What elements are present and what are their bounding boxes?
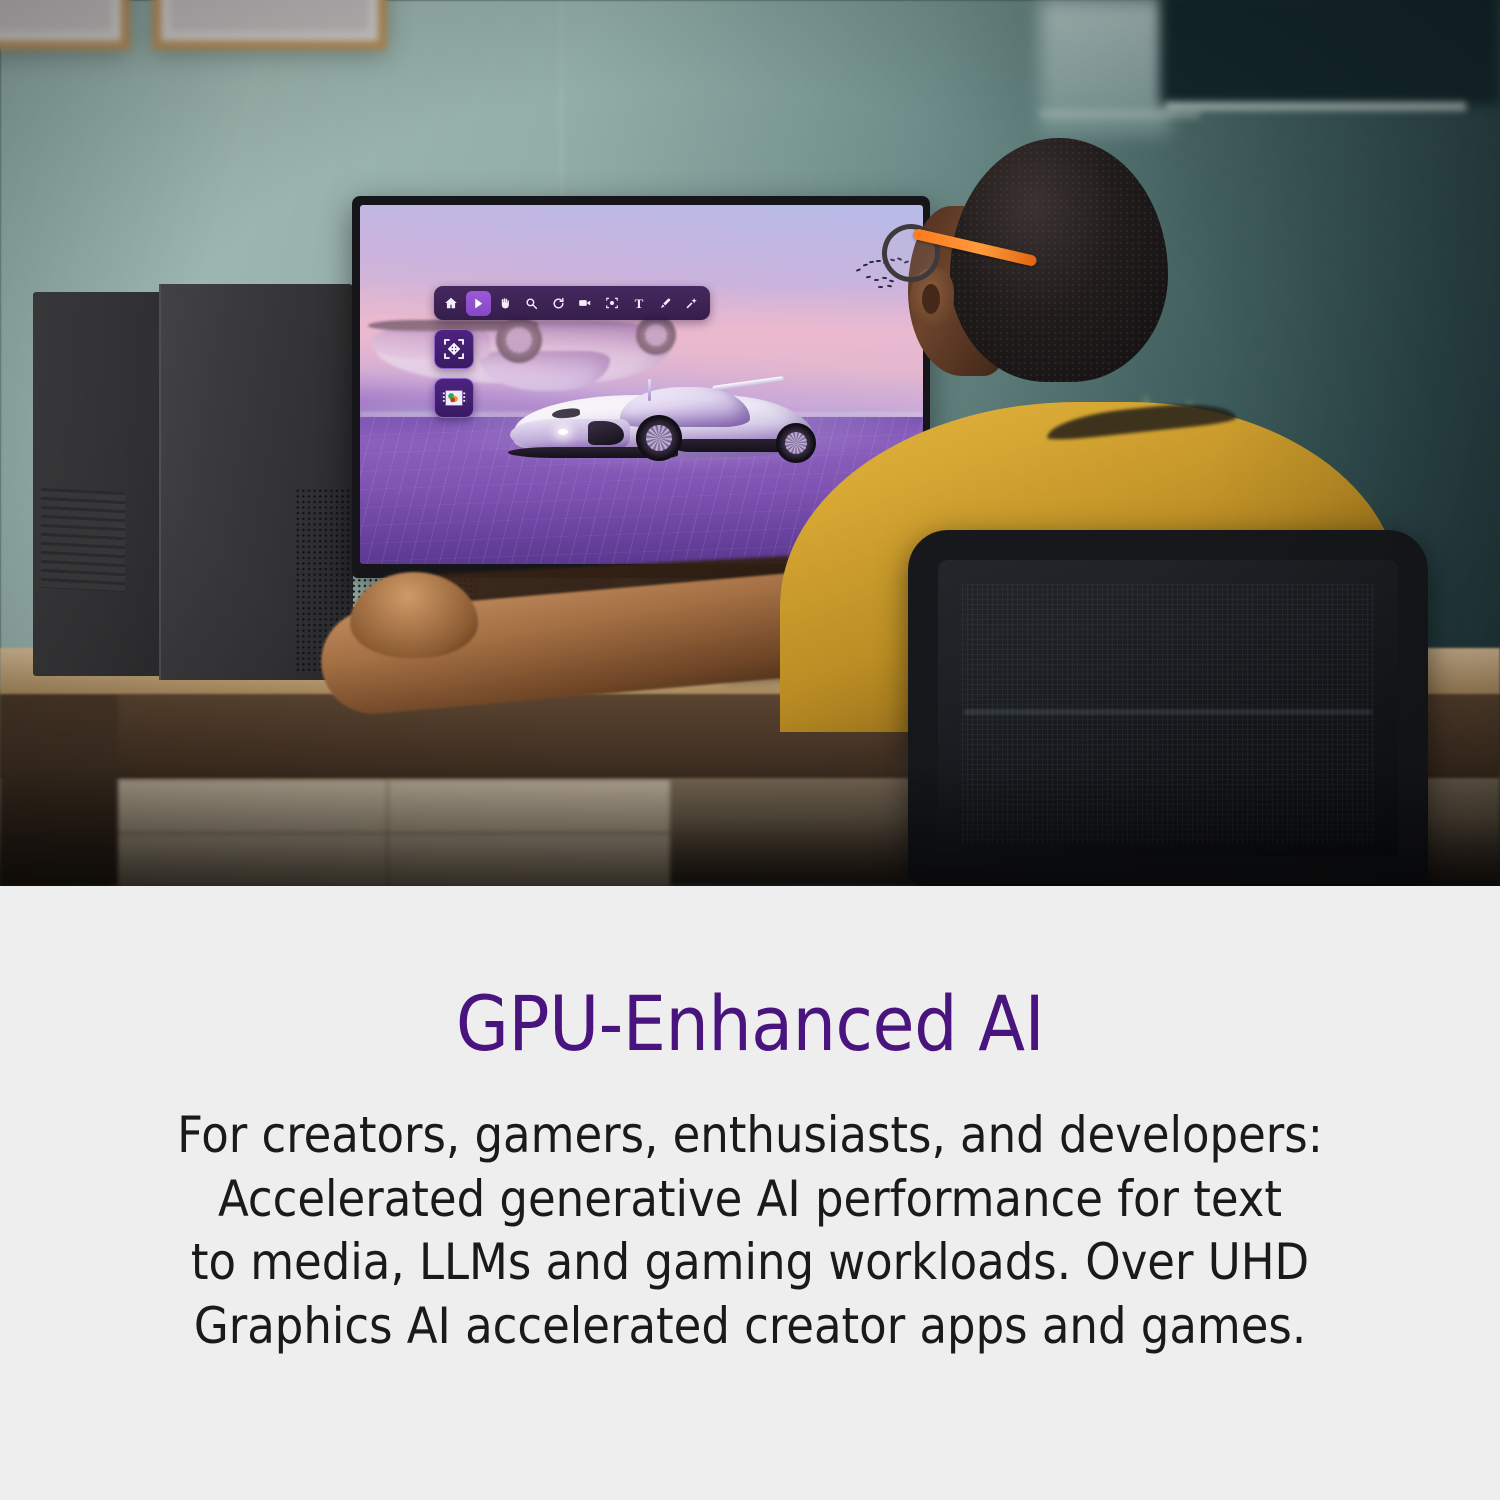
media-filmstrip-icon[interactable] xyxy=(434,378,474,418)
car-rear-wheel xyxy=(776,423,816,463)
wall-shelf xyxy=(1166,102,1466,111)
text-tool-icon[interactable]: T xyxy=(627,291,652,316)
pan-hand-icon[interactable] xyxy=(493,291,518,316)
rear-wheel-reflection xyxy=(636,315,676,355)
picture-mat xyxy=(171,0,368,31)
wall-picture-frame-2 xyxy=(152,0,387,50)
magic-wand-icon[interactable] xyxy=(680,291,705,316)
photo-bottom-shade xyxy=(0,766,1500,886)
car-front-wheel xyxy=(636,415,682,461)
wall-shelf-secondary xyxy=(1040,110,1200,118)
car-rear-wing xyxy=(712,376,784,391)
head-with-hair xyxy=(950,138,1168,382)
page-title: GPU-Enhanced AI xyxy=(456,986,1044,1062)
body-line: Graphics AI accelerated creator apps and… xyxy=(80,1295,1420,1359)
select-cursor-icon[interactable] xyxy=(466,291,491,316)
app-toolbar[interactable]: T xyxy=(434,286,710,320)
car-cabin-reflection xyxy=(480,351,610,391)
body-line: Accelerated generative AI performance fo… xyxy=(80,1168,1420,1232)
car-air-intake xyxy=(588,421,624,445)
app-side-panel[interactable] xyxy=(434,329,474,427)
marketing-page: DELL xyxy=(0,0,1500,1500)
body-line: For creators, gamers, enthusiasts, and d… xyxy=(80,1104,1420,1168)
body-line: to media, LLMs and gaming workloads. Ove… xyxy=(80,1231,1420,1295)
dell-desktop-tower: DELL xyxy=(33,284,353,684)
tower-side-panel xyxy=(33,292,163,676)
selection-frame-icon[interactable] xyxy=(600,291,625,316)
render-car-reflection xyxy=(360,309,690,405)
zoom-magnifier-icon[interactable] xyxy=(519,291,544,316)
transform-move-icon[interactable] xyxy=(434,329,474,369)
tower-front-panel: DELL xyxy=(161,284,353,680)
car-headlight xyxy=(558,429,568,435)
camera-icon[interactable] xyxy=(573,291,598,316)
rotate-icon[interactable] xyxy=(546,291,571,316)
tower-side-vents xyxy=(41,488,125,592)
hair-texture xyxy=(950,138,1168,382)
home-icon[interactable] xyxy=(439,291,464,316)
wall-picture-frame-1 xyxy=(0,0,130,50)
wall-cabinet xyxy=(1160,0,1500,105)
product-lifestyle-photo: DELL xyxy=(0,0,1500,886)
brush-icon[interactable] xyxy=(653,291,678,316)
front-wheel-reflection xyxy=(496,317,542,363)
chair-lumbar-support xyxy=(964,710,1372,714)
ear-inner xyxy=(922,284,940,314)
feature-description: For creators, gamers, enthusiasts, and d… xyxy=(80,1104,1420,1358)
feature-text-panel: GPU-Enhanced AI For creators, gamers, en… xyxy=(0,886,1500,1500)
picture-mat xyxy=(0,0,111,31)
